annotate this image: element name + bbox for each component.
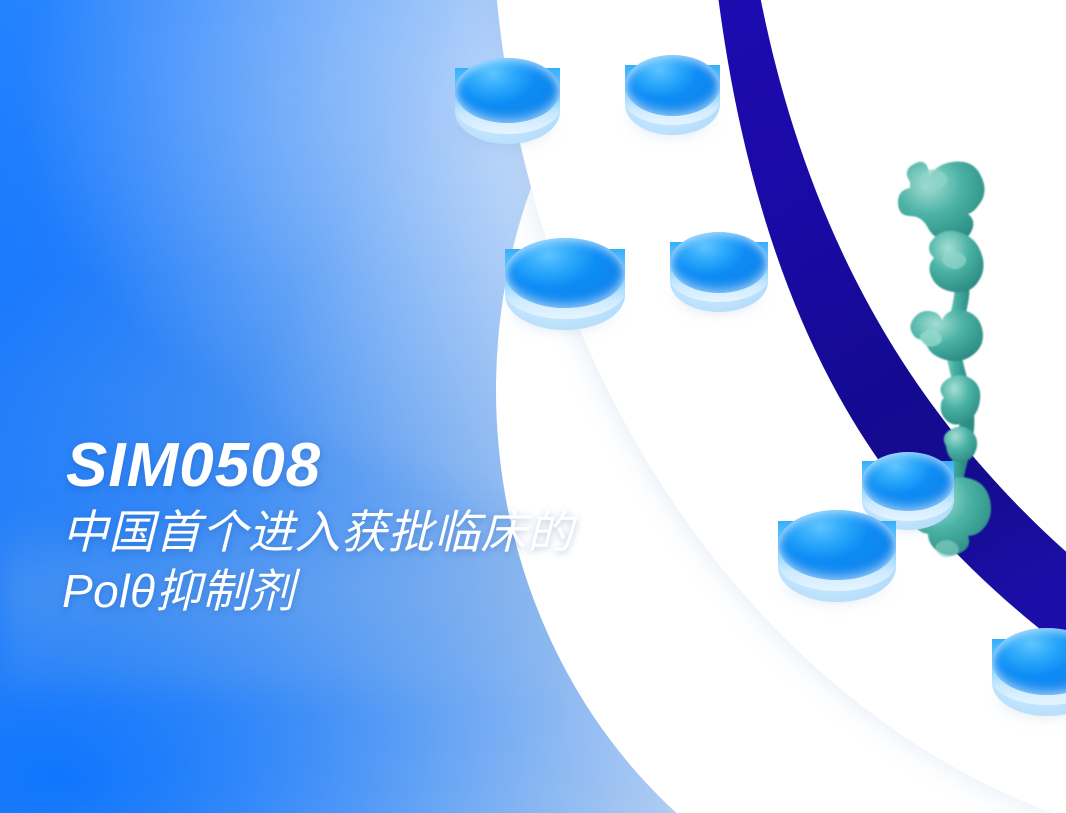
promo-banner: SIM0508 中国首个进入获批临床的 Polθ抑制剂 [0, 0, 1066, 813]
tablet-top [778, 510, 896, 580]
product-name: SIM0508 [66, 434, 574, 497]
tablet-top [862, 452, 954, 511]
tablet-6 [778, 510, 896, 602]
tablet-3 [505, 238, 625, 330]
tablet-2 [625, 55, 720, 135]
tablet-top [670, 232, 768, 293]
tablet-top [625, 55, 720, 116]
tablet-top [455, 58, 560, 123]
product-tagline: 中国首个进入获批临床的 Polθ抑制剂 [62, 503, 574, 620]
tablet-1 [455, 58, 560, 144]
tablet-7 [992, 628, 1066, 716]
headline-block: SIM0508 中国首个进入获批临床的 Polθ抑制剂 [62, 434, 574, 620]
tablet-4 [670, 232, 768, 312]
tablet-top [505, 238, 625, 308]
